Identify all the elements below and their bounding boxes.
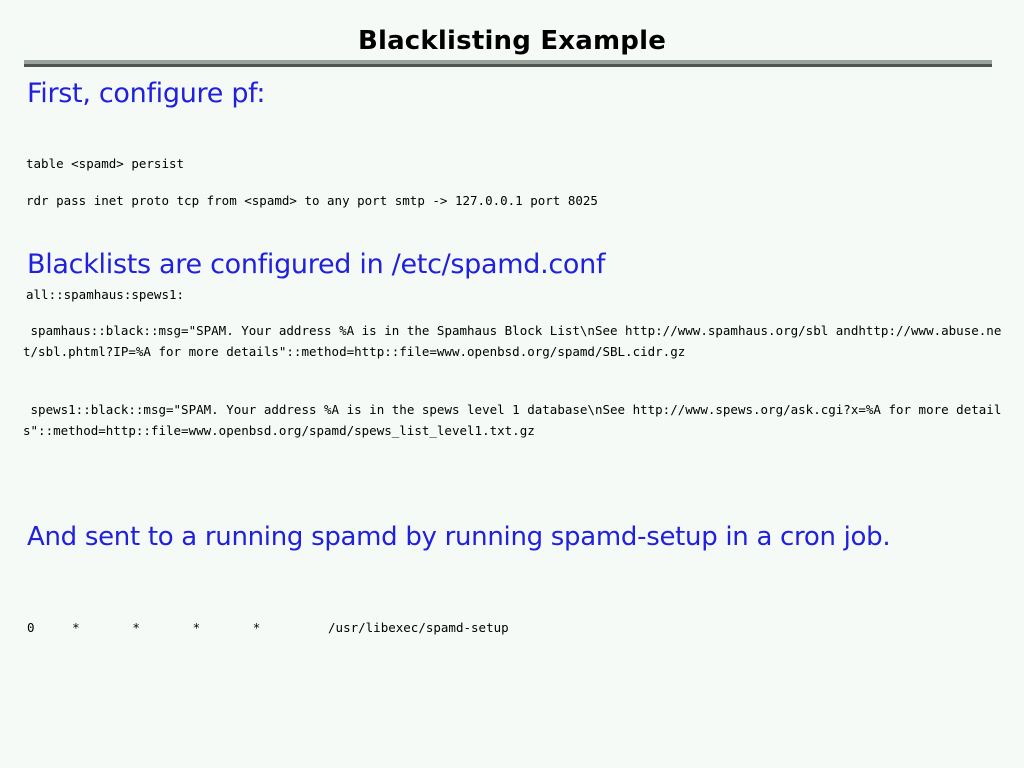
code-block-spews-entry: spews1::black::msg="SPAM. Your address %… xyxy=(23,399,1003,441)
code-line-crontab-entry: 0 * * * * /usr/libexec/spamd-setup xyxy=(27,617,509,638)
code-line-pf-rdr: rdr pass inet proto tcp from <spamd> to … xyxy=(26,190,598,211)
page-title: Blacklisting Example xyxy=(0,26,1024,56)
code-line-pf-table: table <spamd> persist xyxy=(26,153,184,174)
heading-cron-job: And sent to a running spamd by running s… xyxy=(27,521,890,553)
slide: Blacklisting Example First, configure pf… xyxy=(0,0,1024,768)
title-divider xyxy=(24,60,992,67)
code-block-spamhaus-entry: spamhaus::black::msg="SPAM. Your address… xyxy=(23,320,1003,362)
heading-configure-pf: First, configure pf: xyxy=(27,78,265,110)
heading-blacklists-config: Blacklists are configured in /etc/spamd.… xyxy=(27,249,605,281)
code-line-all-lists: all::spamhaus:spews1: xyxy=(26,284,184,305)
